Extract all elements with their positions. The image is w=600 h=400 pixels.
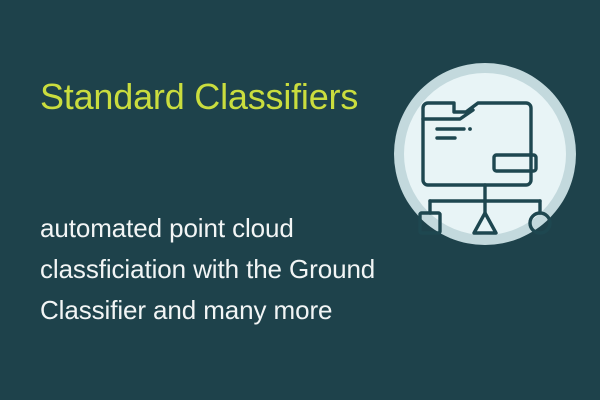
card-body-line: classficiation with the Ground [40,249,470,290]
card-body-line: automated point cloud [40,208,470,249]
card-body-line: Classifier and many more [40,290,470,331]
promo-card: Standard Classifiers automated point clo… [0,0,600,400]
card-title: Standard Classifiers [40,76,358,118]
leaf-triangle-icon [474,213,496,233]
card-body: automated point cloud classficiation wit… [40,208,470,331]
leaf-circle-icon [530,213,550,233]
folder-dot [468,127,472,131]
